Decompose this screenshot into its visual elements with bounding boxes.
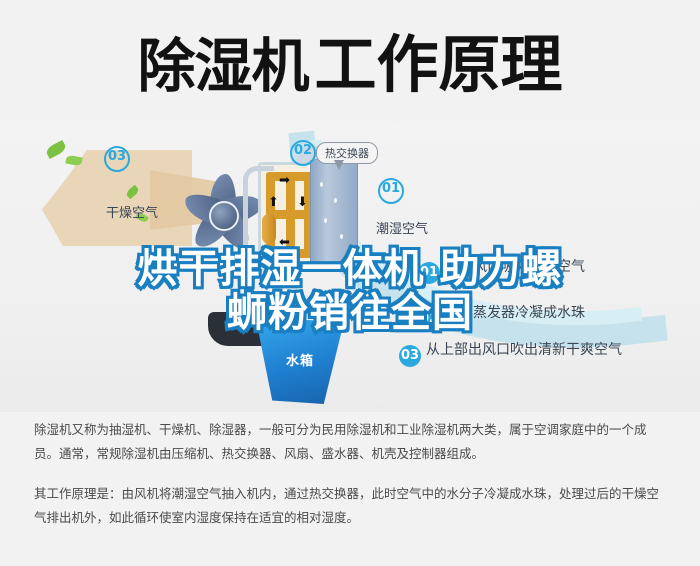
step-item-03: 03从上部出风口吹出清新干爽空气: [399, 339, 622, 367]
callout-badge-02: 02: [290, 140, 316, 166]
flow-arrow-right-icon: ➡: [279, 174, 290, 187]
step-text-02: 经过蒸发器冷凝成水珠: [445, 305, 585, 321]
condensation-droplet-icon: [334, 198, 337, 203]
illustration-stage: ➡ ⬆ ⬇ ⬅ ⬅ 水箱 03 干燥空气 02 热交换器 01 潮湿空气 01由…: [0, 122, 700, 412]
page-title-part-b: 工作原理: [315, 28, 563, 101]
flow-arrow-left-icon: ⬅: [279, 236, 290, 249]
dehumidifier-infographic-page: 除湿机工作原理: [0, 0, 700, 566]
flow-arrow-down-icon: ⬇: [297, 196, 308, 209]
body-paragraph-1: 除湿机又称为抽湿机、干燥机、除湿器，一般可分为民用除湿机和工业除湿机两大类，属于…: [34, 418, 670, 466]
copper-pipe: [266, 249, 313, 258]
leaf-icon: [45, 140, 68, 159]
callout-label-dry-air: 干燥空气: [106, 202, 158, 221]
callout-label-humid-air: 潮湿空气: [376, 218, 428, 237]
callout-badge-03: 03: [104, 146, 130, 172]
condensation-droplet-icon: [340, 234, 343, 239]
page-title: 除湿机工作原理: [0, 34, 700, 96]
callout-label-heat-exchanger: 热交换器: [316, 142, 378, 164]
step-badge-01: 01: [418, 262, 440, 284]
flow-arrow-up-icon: ⬆: [268, 196, 279, 209]
condensation-droplet-icon: [320, 182, 323, 187]
step-badge-03: 03: [399, 345, 421, 367]
page-title-part-a: 除湿机: [137, 32, 308, 100]
flow-arrow-left-icon: ⬅: [268, 272, 279, 285]
step-item-01: 01由进风口吸入潮湿空气: [418, 256, 585, 284]
body-paragraph-2: 其工作原理是：由风机将潮湿空气抽入机内，通过热交换器，此时空气中的水分子冷凝成水…: [34, 482, 670, 530]
condensation-droplet-icon: [324, 218, 327, 223]
compressor-canister: [262, 214, 276, 244]
step-text-03: 从上部出风口吹出清新干爽空气: [426, 342, 622, 358]
callout-badge-01: 01: [378, 178, 404, 204]
fan-hub: [209, 201, 239, 231]
title-bar: 除湿机工作原理: [0, 0, 700, 122]
step-badge-02: 02: [418, 308, 440, 330]
water-tank-label: 水箱: [270, 350, 330, 369]
step-item-02: 02经过蒸发器冷凝成水珠: [418, 302, 585, 330]
step-text-01: 由进风口吸入潮湿空气: [445, 259, 585, 275]
callout-bubble-tail: [334, 160, 344, 170]
body-text: 除湿机又称为抽湿机、干燥机、除湿器，一般可分为民用除湿机和工业除湿机两大类，属于…: [34, 418, 670, 530]
